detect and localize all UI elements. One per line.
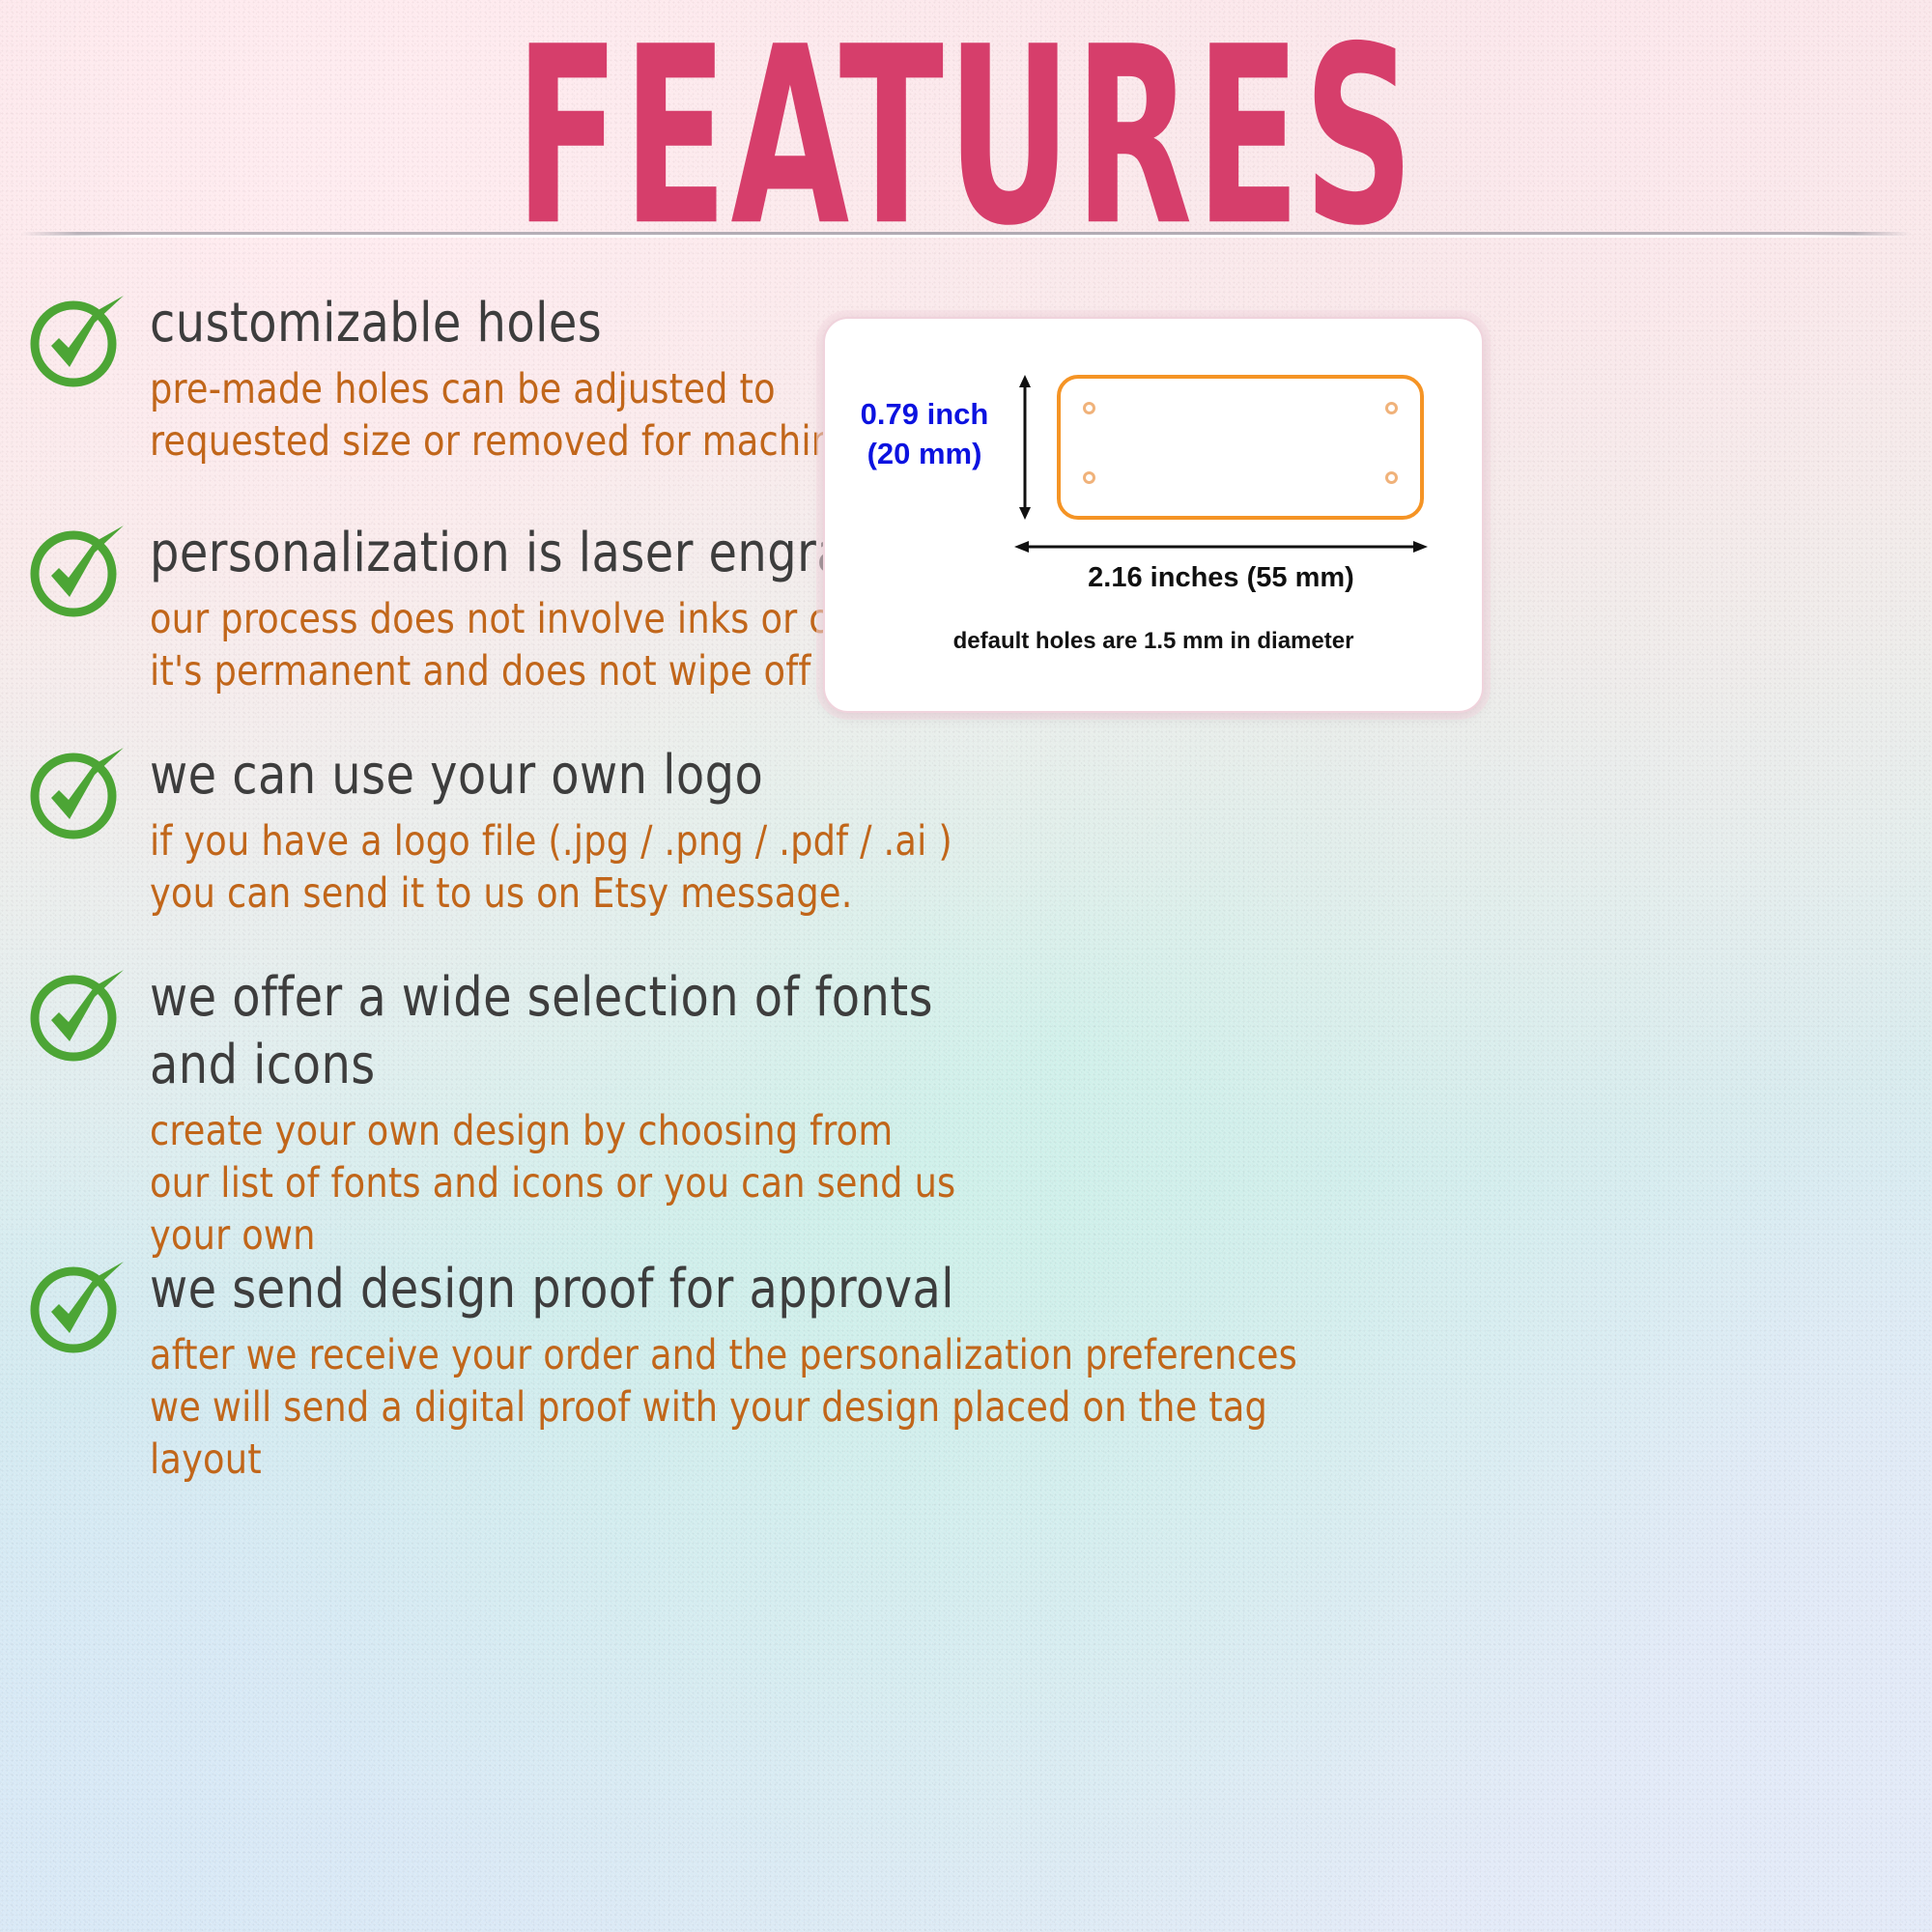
feature-heading: we offer a wide selection of fonts and i… xyxy=(150,964,1154,1099)
tag-hole-bottom-right xyxy=(1385,471,1398,484)
feature-item: we send design proof for approval after … xyxy=(0,1256,1449,1486)
feature-heading: we send design proof for approval xyxy=(150,1256,1384,1323)
feature-subtext: if you have a logo file (.jpg / .png / .… xyxy=(150,815,1154,920)
feature-item: we offer a wide selection of fonts and i… xyxy=(0,964,1207,1262)
page-title: FEATURES xyxy=(174,17,1758,258)
green-check-icon xyxy=(27,1256,128,1357)
green-check-icon xyxy=(27,964,128,1065)
feature-subtext: create your own design by choosing from … xyxy=(150,1105,1154,1262)
tag-hole-note: default holes are 1.5 mm in diameter xyxy=(864,628,1443,655)
tag-outline-shape xyxy=(1057,375,1424,520)
height-dimension-arrow xyxy=(1018,375,1032,520)
green-check-icon xyxy=(27,290,128,391)
title-divider xyxy=(21,232,1911,236)
feature-subtext: after we receive your order and the pers… xyxy=(150,1329,1384,1486)
tag-hole-top-left xyxy=(1083,402,1095,414)
width-dimension-arrow xyxy=(1014,539,1428,554)
green-check-icon xyxy=(27,742,128,843)
tag-hole-bottom-left xyxy=(1083,471,1095,484)
features-infographic: FEATURES customizable holes pre-made hol… xyxy=(0,0,1932,1932)
feature-item: we can use your own logo if you have a l… xyxy=(0,742,1207,920)
tag-dimension-diagram-card: 0.79 inch (20 mm) xyxy=(823,317,1484,713)
tag-height-label: 0.79 inch (20 mm) xyxy=(842,394,1007,473)
tag-hole-top-right xyxy=(1385,402,1398,414)
feature-heading: we can use your own logo xyxy=(150,742,1154,810)
tag-width-label: 2.16 inches (55 mm) xyxy=(999,562,1443,594)
green-check-icon xyxy=(27,520,128,621)
